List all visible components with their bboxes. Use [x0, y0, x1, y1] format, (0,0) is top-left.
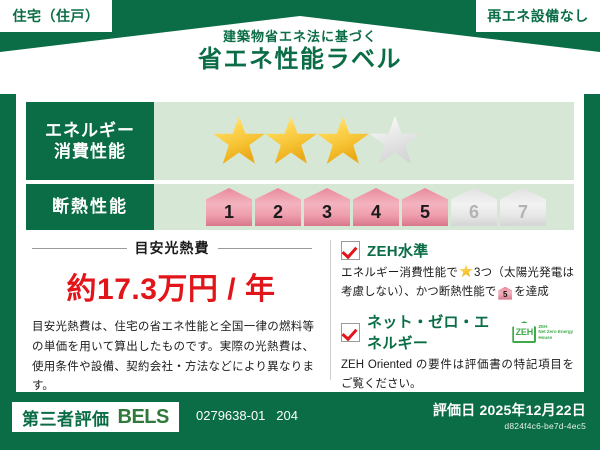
insulation-level-scale: 1234567: [154, 184, 574, 230]
certificate-number: 0279638-01 204: [196, 408, 298, 423]
insulation-level-6: 6: [451, 188, 497, 226]
bels-japanese-label: 第三者評価: [22, 405, 110, 430]
utility-cost-heading: 目安光熱費: [26, 236, 326, 258]
utility-cost-block: 目安光熱費 約17.3万円 / 年 目安光熱費は、住宅の省エネ性能と全国一律の燃…: [26, 236, 326, 384]
star-icon-3: [316, 115, 370, 167]
footer-bar: 第三者評価 BELS 0279638-01 204 評価日 2025年12月22…: [0, 396, 600, 450]
zeh-desc-part1: エネルギー消費性能で: [341, 267, 458, 279]
title-subtitle: 建築物省エネ法に基づく: [0, 30, 600, 44]
energy-performance-label: 住宅（住戸） 再エネ設備なし 建築物省エネ法に基づく 省エネ性能ラベル エネルギ…: [0, 0, 600, 450]
energy-label-line1: エネルギー: [45, 120, 135, 141]
zeh-logo: ZEH ZEH Net Zero Energy House: [512, 321, 574, 343]
evaluation-hash: d824f4c6-be7d-4ec5: [433, 421, 586, 431]
label-card: エネルギー 消費性能 断熱性能 1234567 目安光熱費 約17.3万円 / …: [16, 94, 584, 392]
rule-left: [32, 248, 127, 249]
page-title: 省エネ性能ラベル: [0, 45, 600, 75]
zeh-standard-description: エネルギー消費性能で3つ（太陽光発電は考慮しない）、かつ断熱性能で5を達成: [341, 264, 574, 301]
utility-cost-note: 目安光熱費は、住宅の省エネ性能と全国一律の燃料等の単価を用いて算出したものです。…: [26, 318, 326, 397]
energy-rating-row: エネルギー 消費性能: [26, 102, 574, 180]
zeh-sub-line2: Net Zero Energy House: [538, 329, 573, 340]
star-rating: [154, 102, 574, 180]
evaluation-date: 評価日 2025年12月22日: [433, 400, 586, 420]
building-type-badge: 住宅（住戸）: [0, 0, 112, 32]
zeh-desc-part3: を達成: [514, 286, 549, 298]
star-icon: [459, 264, 473, 278]
net-zero-heading: ネット・ゼロ・エネルギー ZEH ZEH Net Zero Energy Hou…: [341, 311, 574, 353]
lower-section: 目安光熱費 約17.3万円 / 年 目安光熱費は、住宅の省エネ性能と全国一律の燃…: [26, 236, 574, 384]
insulation-level-5: 5: [402, 188, 448, 226]
zeh-house-icon: ZEH: [512, 321, 536, 343]
zeh-logo-subtext: ZEH Net Zero Energy House: [538, 324, 574, 341]
evaluation-info: 評価日 2025年12月22日 d824f4c6-be7d-4ec5: [433, 400, 586, 431]
house-level-icon: 5: [498, 287, 512, 300]
bels-badge: 第三者評価 BELS: [12, 402, 179, 432]
zeh-standard-block: ZEH水準 エネルギー消費性能で3つ（太陽光発電は考慮しない）、かつ断熱性能で5…: [341, 240, 574, 301]
energy-rating-label: エネルギー 消費性能: [26, 102, 154, 180]
net-zero-energy-block: ネット・ゼロ・エネルギー ZEH ZEH Net Zero Energy Hou…: [341, 311, 574, 393]
check-icon: [341, 241, 360, 260]
net-zero-title: ネット・ゼロ・エネルギー: [367, 311, 502, 353]
insulation-level-7: 7: [500, 188, 546, 226]
insulation-level-3: 3: [304, 188, 350, 226]
bels-logo-text: BELS: [118, 406, 169, 429]
insulation-level-4: 4: [353, 188, 399, 226]
star-icon-4: [368, 115, 422, 167]
zeh-standard-heading: ZEH水準: [341, 240, 574, 261]
insulation-rating-label: 断熱性能: [26, 184, 154, 230]
title-block: 建築物省エネ法に基づく 省エネ性能ラベル: [0, 30, 600, 75]
zeh-standard-title: ZEH水準: [367, 240, 429, 261]
insulation-level-2: 2: [255, 188, 301, 226]
utility-cost-value: 約17.3万円 / 年: [26, 264, 326, 308]
star-icon-1: [212, 115, 266, 167]
rule-right: [218, 248, 313, 249]
zeh-sub-line1: ZEH: [538, 324, 547, 329]
certification-checks: ZEH水準 エネルギー消費性能で3つ（太陽光発電は考慮しない）、かつ断熱性能で5…: [341, 236, 574, 384]
net-zero-description: ZEH Oriented の要件は評価書の特記項目をご覧ください。: [341, 356, 574, 393]
utility-cost-heading-text: 目安光熱費: [135, 238, 210, 258]
insulation-level-1: 1: [206, 188, 252, 226]
vertical-divider: [330, 240, 331, 380]
renewable-equipment-badge: 再エネ設備なし: [476, 0, 600, 32]
energy-label-line2: 消費性能: [54, 141, 126, 162]
insulation-rating-row: 断熱性能 1234567: [26, 184, 574, 230]
star-icon-2: [264, 115, 318, 167]
check-icon: [341, 323, 360, 342]
